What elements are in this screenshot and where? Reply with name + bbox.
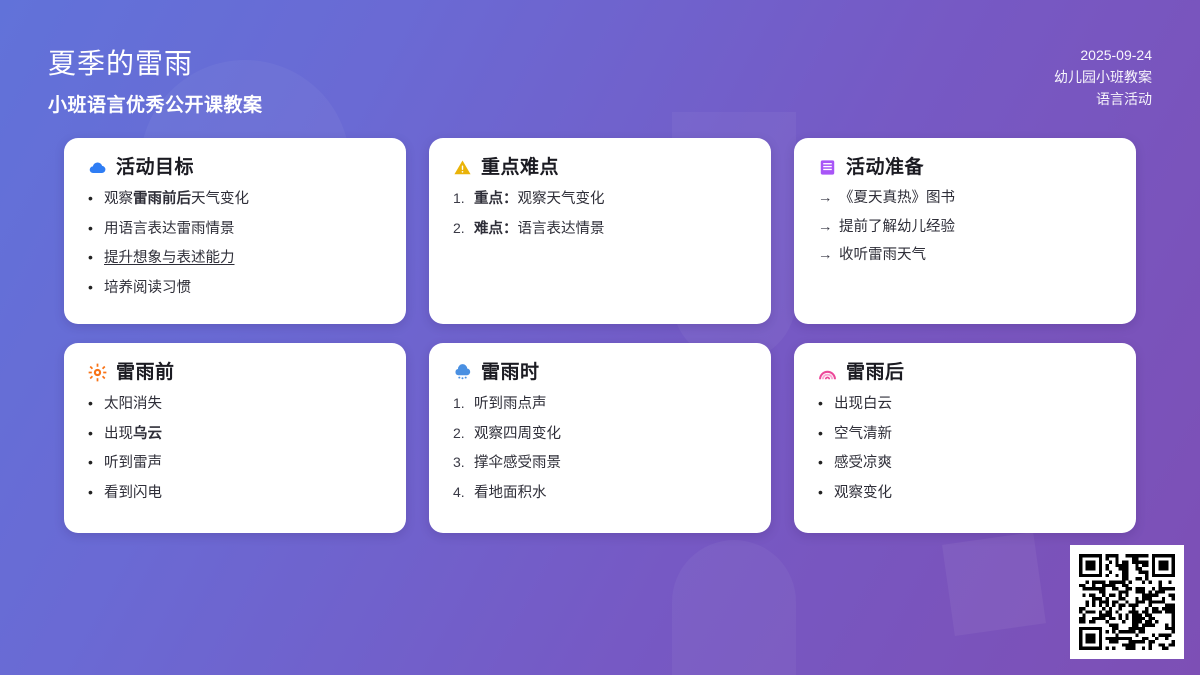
list-item: •出现白云: [818, 396, 1112, 412]
list-item-text: 空气清新: [834, 427, 892, 442]
card-list: •出现白云•空气清新•感受凉爽•观察变化: [818, 396, 1112, 500]
list-item-text: 听到雷声: [104, 456, 162, 471]
list-item-text: 重点：观察天气变化: [474, 192, 605, 207]
list-item-text: 《夏天真热》图书: [839, 191, 955, 206]
list-marker: 1.: [453, 191, 474, 205]
meta-category: 幼儿园小班教案: [1054, 66, 1152, 88]
list-item: →提前了解幼儿经验: [818, 220, 1112, 235]
list-marker: 2.: [453, 426, 474, 440]
bullet-icon: •: [818, 426, 834, 440]
card-header: 雷雨时: [453, 363, 747, 382]
page-subtitle: 小班语言优秀公开课教案: [48, 96, 263, 115]
qr-code[interactable]: [1070, 545, 1184, 659]
card-header: 雷雨前: [88, 363, 382, 382]
decorative-circle-bottom: [672, 540, 796, 675]
list-item: 1.听到雨点声: [453, 396, 747, 412]
warning-icon: [453, 158, 472, 177]
list-item: 4.看地面积水: [453, 485, 747, 501]
list-item: 2.难点：语言表达情景: [453, 221, 747, 237]
book-icon: [818, 158, 837, 177]
list-item: •培养阅读习惯: [88, 280, 382, 296]
sun-icon: [88, 363, 107, 382]
list-item-text: 提升想象与表述能力: [104, 251, 235, 266]
list-item-text: 出现白云: [834, 397, 892, 412]
bullet-icon: •: [88, 455, 104, 469]
cloud-icon: [88, 158, 107, 177]
card-header: 雷雨后: [818, 363, 1112, 382]
bullet-icon: •: [88, 280, 104, 294]
list-item: •看到闪电: [88, 485, 382, 501]
header-meta: 2025-09-24 幼儿园小班教案 语言活动: [1054, 44, 1152, 110]
list-item-text: 观察变化: [834, 486, 892, 501]
list-item-text: 感受凉爽: [834, 456, 892, 471]
card-list: •太阳消失•出现乌云•听到雷声•看到闪电: [88, 396, 382, 500]
list-item: •提升想象与表述能力: [88, 250, 382, 266]
card-header: 活动目标: [88, 158, 382, 177]
bullet-icon: •: [88, 250, 104, 264]
list-item: 2.观察四周变化: [453, 426, 747, 442]
card-3: 活动准备→《夏天真热》图书→提前了解幼儿经验→收听雷雨天气: [794, 138, 1136, 324]
page-title: 夏季的雷雨: [48, 50, 193, 78]
card-list: 1.重点：观察天气变化2.难点：语言表达情景: [453, 191, 747, 236]
list-marker: 1.: [453, 396, 474, 410]
card-4: 雷雨前•太阳消失•出现乌云•听到雷声•看到闪电: [64, 343, 406, 533]
card-title: 雷雨后: [846, 363, 905, 382]
qr-code-svg: [1079, 554, 1175, 650]
list-item-text: 观察雷雨前后天气变化: [104, 192, 249, 207]
list-item: 3.撑伞感受雨景: [453, 455, 747, 471]
list-item: →《夏天真热》图书: [818, 191, 1112, 206]
card-list: 1.听到雨点声2.观察四周变化3.撑伞感受雨景4.看地面积水: [453, 396, 747, 500]
card-2: 重点难点1.重点：观察天气变化2.难点：语言表达情景: [429, 138, 771, 324]
rain-cloud-icon: [453, 363, 472, 382]
list-item-text: 出现乌云: [104, 427, 162, 442]
card-5: 雷雨时1.听到雨点声2.观察四周变化3.撑伞感受雨景4.看地面积水: [429, 343, 771, 533]
list-item-text: 太阳消失: [104, 397, 162, 412]
meta-date: 2025-09-24: [1054, 44, 1152, 66]
bullet-icon: •: [818, 455, 834, 469]
list-item-text: 观察四周变化: [474, 427, 561, 442]
list-item: →收听雷雨天气: [818, 248, 1112, 263]
list-item-text: 收听雷雨天气: [839, 248, 926, 263]
decorative-square: [942, 532, 1046, 636]
card-title: 活动目标: [116, 158, 194, 177]
list-item: •用语言表达雷雨情景: [88, 221, 382, 237]
card-title: 重点难点: [481, 158, 559, 177]
card-title: 雷雨时: [481, 363, 540, 382]
list-item: •观察雷雨前后天气变化: [88, 191, 382, 207]
bullet-icon: •: [88, 485, 104, 499]
rainbow-icon: [818, 363, 837, 382]
list-item: •感受凉爽: [818, 455, 1112, 471]
arrow-icon: →: [818, 248, 839, 263]
card-1: 活动目标•观察雷雨前后天气变化•用语言表达雷雨情景•提升想象与表述能力•培养阅读…: [64, 138, 406, 324]
card-header: 重点难点: [453, 158, 747, 177]
list-item-text: 看地面积水: [474, 486, 547, 501]
meta-subject: 语言活动: [1054, 88, 1152, 110]
list-item-text: 看到闪电: [104, 486, 162, 501]
list-item-text: 听到雨点声: [474, 397, 547, 412]
arrow-icon: →: [818, 220, 839, 235]
card-grid: 活动目标•观察雷雨前后天气变化•用语言表达雷雨情景•提升想象与表述能力•培养阅读…: [64, 138, 1136, 533]
list-marker: 3.: [453, 455, 474, 469]
list-item-text: 提前了解幼儿经验: [839, 220, 955, 235]
list-item: •空气清新: [818, 426, 1112, 442]
bullet-icon: •: [818, 485, 834, 499]
bullet-icon: •: [88, 396, 104, 410]
bullet-icon: •: [88, 191, 104, 205]
list-item: •听到雷声: [88, 455, 382, 471]
card-title: 活动准备: [846, 158, 924, 177]
bullet-icon: •: [88, 221, 104, 235]
card-header: 活动准备: [818, 158, 1112, 177]
list-item-text: 撑伞感受雨景: [474, 456, 561, 471]
list-marker: 2.: [453, 221, 474, 235]
bullet-icon: •: [818, 396, 834, 410]
list-item-text: 培养阅读习惯: [104, 281, 191, 296]
card-list: •观察雷雨前后天气变化•用语言表达雷雨情景•提升想象与表述能力•培养阅读习惯: [88, 191, 382, 295]
bullet-icon: •: [88, 426, 104, 440]
card-list: →《夏天真热》图书→提前了解幼儿经验→收听雷雨天气: [818, 191, 1112, 263]
card-6: 雷雨后•出现白云•空气清新•感受凉爽•观察变化: [794, 343, 1136, 533]
list-item: •观察变化: [818, 485, 1112, 501]
list-item: 1.重点：观察天气变化: [453, 191, 747, 207]
arrow-icon: →: [818, 191, 839, 206]
list-item: •太阳消失: [88, 396, 382, 412]
list-item-text: 用语言表达雷雨情景: [104, 222, 235, 237]
list-item-text: 难点：语言表达情景: [474, 222, 605, 237]
list-marker: 4.: [453, 485, 474, 499]
list-item: •出现乌云: [88, 426, 382, 442]
slide-header: 夏季的雷雨 小班语言优秀公开课教案 2025-09-24 幼儿园小班教案 语言活…: [0, 0, 1200, 128]
slide-root: 夏季的雷雨 小班语言优秀公开课教案 2025-09-24 幼儿园小班教案 语言活…: [0, 0, 1200, 675]
card-title: 雷雨前: [116, 363, 175, 382]
